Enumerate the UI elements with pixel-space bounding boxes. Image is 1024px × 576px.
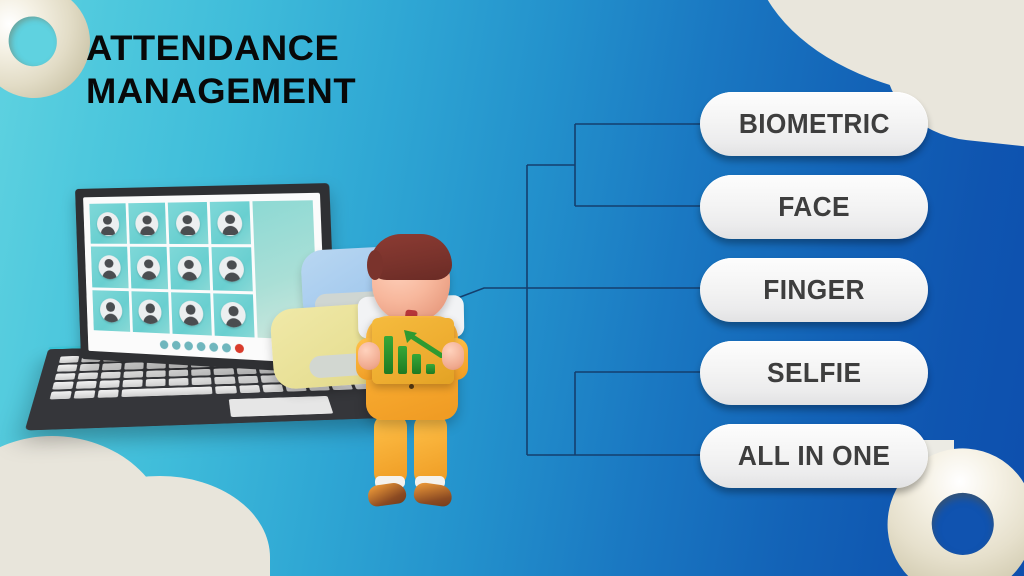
control-dot (221, 343, 230, 353)
branch-label: FINGER (763, 274, 865, 306)
user-avatar-icon (137, 255, 161, 280)
trend-arrow-icon (400, 328, 444, 358)
spacebar-key (122, 387, 213, 397)
branch-label: FACE (778, 191, 850, 223)
key (76, 381, 97, 389)
branch-pill-all-in-one[interactable]: ALL IN ONE (700, 424, 928, 488)
participant-tile (171, 292, 211, 336)
character-shoe-right (413, 481, 454, 507)
user-avatar-icon (138, 299, 162, 324)
participant-tile (131, 291, 170, 334)
user-avatar-icon (135, 211, 159, 236)
key (78, 372, 99, 380)
user-avatar-icon (99, 298, 122, 323)
participant-tile (91, 247, 128, 288)
character-hand-right (442, 342, 464, 370)
key (169, 369, 189, 377)
key (146, 370, 166, 378)
page-title: ATTENDANCE MANAGEMENT (86, 28, 356, 113)
participant-tile (128, 203, 167, 245)
key (146, 379, 166, 387)
key (79, 364, 99, 371)
control-dot (209, 342, 218, 352)
user-avatar-icon (219, 256, 245, 282)
user-avatar-icon (217, 210, 243, 236)
participant-tile (213, 293, 255, 337)
key (101, 371, 121, 379)
key (102, 363, 122, 370)
user-avatar-icon (221, 302, 247, 328)
control-dot (171, 340, 180, 349)
character-shoe-left (367, 481, 408, 507)
key (192, 377, 212, 385)
branch-label: SELFIE (767, 357, 861, 389)
user-avatar-icon (177, 256, 202, 281)
character-hair (370, 234, 452, 280)
record-dot (234, 343, 243, 353)
key (214, 368, 234, 375)
participant-tile (89, 203, 126, 244)
branch-pill-biometric[interactable]: BIOMETRIC (700, 92, 928, 156)
character-hand-left (358, 342, 380, 370)
key (59, 356, 79, 363)
branch-label: ALL IN ONE (738, 440, 890, 472)
participant-tile (211, 247, 253, 291)
key (98, 390, 119, 398)
key (52, 382, 74, 390)
key (192, 369, 212, 376)
branch-pill-selfie[interactable]: SELFIE (700, 341, 928, 405)
key (216, 386, 237, 394)
participant-tile (92, 290, 129, 332)
branch-pill-face[interactable]: FACE (700, 175, 928, 239)
participant-tile (168, 202, 208, 244)
character-button (409, 384, 414, 389)
key (123, 380, 143, 388)
key (169, 378, 189, 386)
control-dot (159, 340, 168, 349)
key (124, 362, 144, 369)
key (54, 373, 75, 381)
control-dot (184, 341, 193, 350)
user-avatar-icon (98, 255, 121, 279)
participant-grid (89, 201, 254, 337)
key (237, 376, 258, 384)
key (57, 364, 78, 371)
infographic-canvas: ATTENDANCE MANAGEMENT (0, 0, 1024, 576)
character-illustration (350, 232, 472, 507)
key (99, 380, 120, 388)
participant-tile (209, 201, 251, 244)
key (124, 371, 144, 379)
laptop-trackpad (229, 396, 334, 417)
branch-pill-finger[interactable]: FINGER (700, 258, 928, 322)
user-avatar-icon (175, 211, 200, 236)
control-dot (196, 341, 205, 350)
participant-tile (129, 247, 168, 289)
participant-tile (169, 247, 209, 290)
branch-label: BIOMETRIC (738, 108, 889, 140)
key (262, 384, 283, 392)
user-avatar-icon (96, 212, 119, 236)
key (239, 385, 260, 393)
key (74, 390, 96, 398)
user-avatar-icon (179, 301, 204, 327)
key (50, 391, 72, 399)
key (215, 377, 235, 385)
